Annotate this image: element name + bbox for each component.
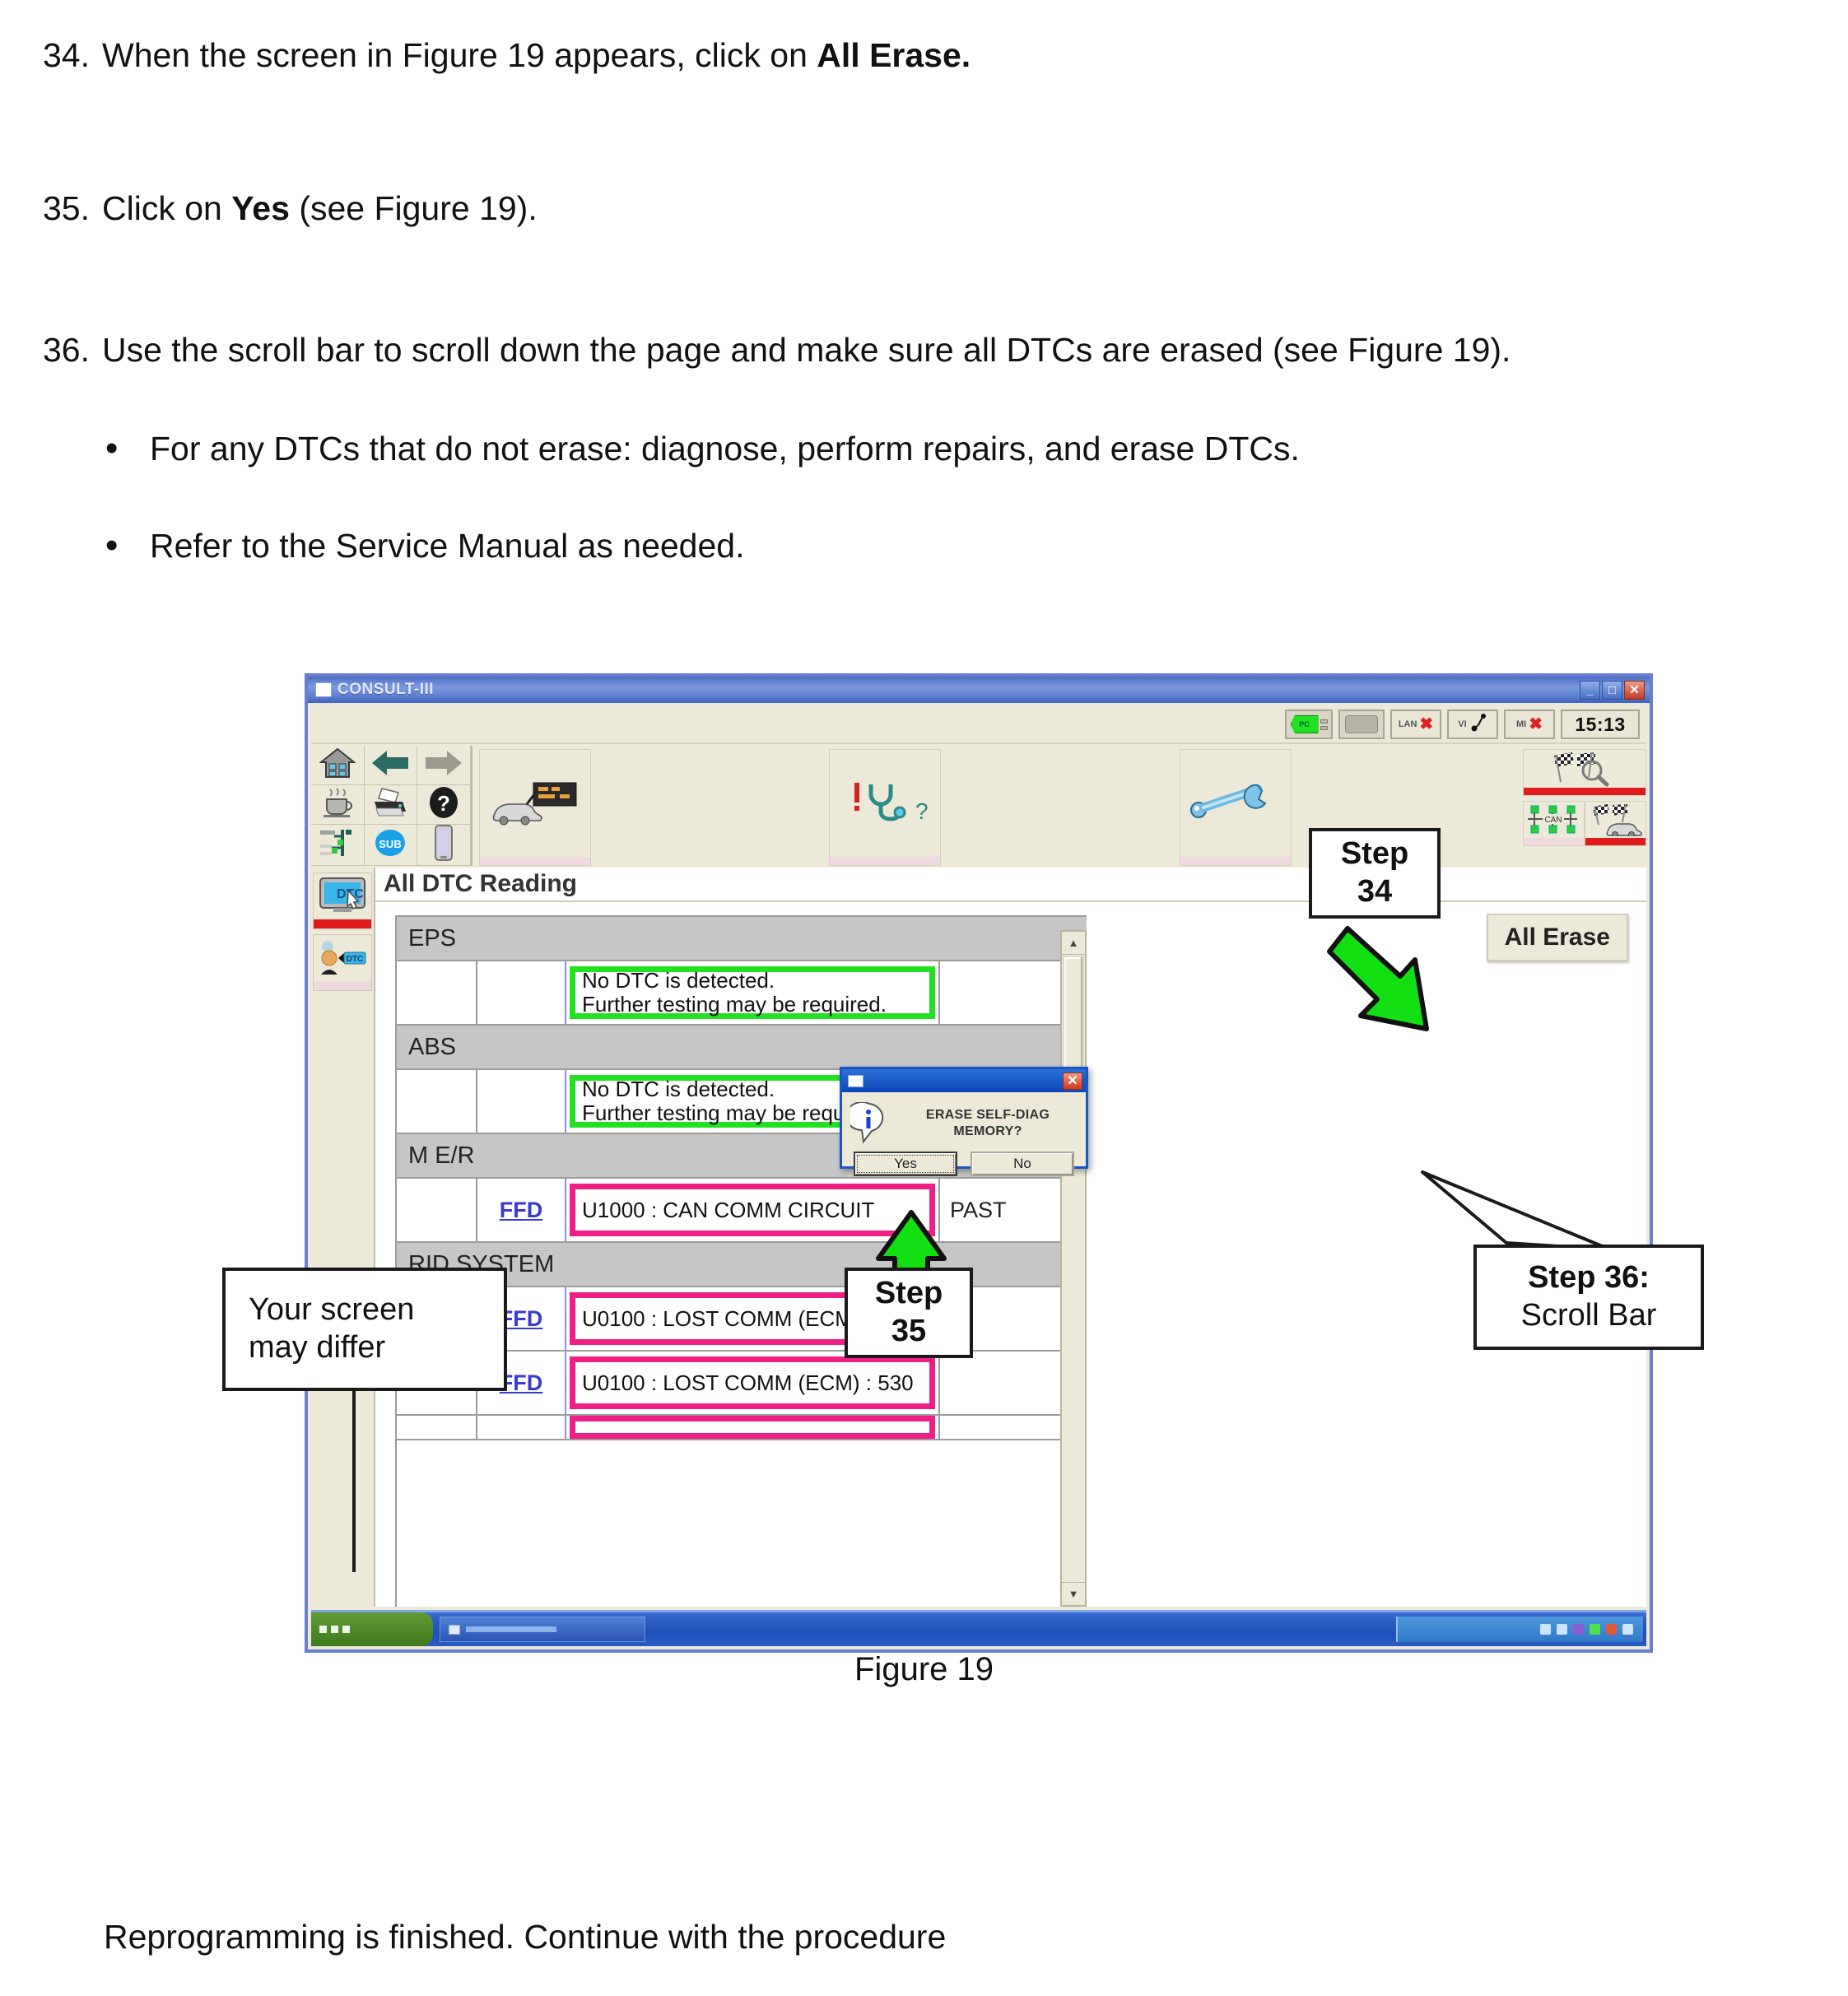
table-row[interactable]: FFD U1000 : CAN COMM CIRCUIT PAST (397, 1179, 1087, 1243)
wrench-icon (1187, 783, 1284, 824)
tray-icon[interactable] (1590, 1624, 1600, 1635)
taskbar-app-label (466, 1626, 556, 1632)
dialog-close-button[interactable]: ✕ (1063, 1072, 1082, 1090)
close-button[interactable]: ✕ (1624, 681, 1645, 700)
row-cell-index (397, 1179, 477, 1241)
vehicle-check-art (1585, 802, 1646, 838)
callout-step-35-line2: 35 (891, 1313, 926, 1351)
figure-caption: Figure 19 (0, 1651, 1848, 1688)
maintenance-underbar (1180, 857, 1291, 865)
dtc-transfer-art: DTC (314, 935, 371, 981)
battery-icon (1338, 710, 1385, 739)
sub-circle-icon: SUB (371, 826, 409, 863)
taskbar-window-item[interactable] (440, 1617, 645, 1642)
main-toolbar: ? (311, 746, 1646, 866)
bullet-item-2: •Refer to the Service Manual as needed. (105, 525, 745, 566)
row-cell-ffd (477, 961, 566, 1024)
maximize-button[interactable]: □ (1602, 681, 1622, 700)
dialog-buttons: Yes No (842, 1143, 1086, 1176)
step-34-text: When the screen in Figure 19 appears, cl… (102, 36, 817, 74)
bullet-dot-icon: • (105, 525, 150, 566)
callout-screen-differ-line1: Your screen (249, 1291, 414, 1329)
toolbar-function-buttons: ? (472, 746, 1646, 866)
erase-confirm-dialog: ✕ ERASE SELF-DIAG MEMORY? (840, 1067, 1088, 1169)
sub-mode-button[interactable]: SUB (365, 825, 418, 866)
step-35-number: 35. (43, 188, 102, 230)
step-34: 34.When the screen in Figure 19 appears,… (43, 35, 971, 77)
car-with-ecu-icon (486, 779, 584, 827)
row-cell-message: No DTC is detected. Further testing may … (566, 961, 938, 1024)
vehicle-ecu-button[interactable] (479, 749, 591, 866)
dialog-body: ERASE SELF-DIAG MEMORY? (842, 1092, 1086, 1143)
printer-icon (370, 786, 410, 823)
can-network-icon: CAN (1526, 803, 1580, 836)
mi-disconnected-x-icon: ✖ (1529, 716, 1543, 733)
dialog-message-line2: MEMORY? (896, 1124, 1079, 1140)
lan-disconnected-x-icon: ✖ (1419, 716, 1433, 733)
vi-label: VI (1458, 719, 1466, 729)
step-36: 36.Use the scroll bar to scroll down the… (43, 329, 1511, 371)
maintenance-button[interactable] (1180, 749, 1292, 866)
step-35-text-before: Click on (102, 189, 231, 227)
dtc-message-line1: No DTC is detected. (582, 969, 923, 993)
network-tree-button[interactable] (311, 825, 365, 866)
diagnosis-button[interactable]: ? (829, 749, 941, 866)
home-icon (319, 747, 356, 784)
svg-text:CAN: CAN (1545, 816, 1562, 825)
dialog-message: ERASE SELF-DIAG MEMORY? (896, 1102, 1079, 1140)
toolbar-left-grid: ? (311, 746, 472, 866)
print-button[interactable] (365, 785, 418, 825)
vi-wire-icon (1469, 713, 1487, 737)
handheld-device-button[interactable] (417, 825, 471, 866)
dtc-search-button[interactable] (1523, 749, 1646, 796)
back-button[interactable] (365, 746, 418, 785)
bullet-item-1: •For any DTCs that do not erase: diagnos… (105, 428, 1300, 469)
svg-text:SUB: SUB (379, 838, 402, 850)
network-tree-icon (318, 826, 357, 863)
vi-cable-svg (1469, 713, 1487, 733)
step-34-number: 34. (43, 35, 102, 77)
stethoscope-icon: ? (840, 779, 930, 827)
dialog-icon (848, 1075, 863, 1087)
step-35-text-after: (see Figure 19). (290, 189, 538, 227)
section-header-eps: EPS (397, 917, 1087, 961)
window-title: CONSULT-III (337, 681, 1580, 699)
back-arrow-icon (370, 747, 410, 783)
step-36-number: 36. (43, 329, 102, 371)
step-35: 35.Click on Yes (see Figure 19). (43, 188, 538, 230)
callout-step-35-line1: Step (875, 1275, 943, 1313)
page-title: All DTC Reading (375, 868, 1646, 902)
toolbar-right-row-1 (1523, 749, 1646, 796)
minimize-button[interactable]: _ (1580, 681, 1600, 700)
dtc-reading-rail-button[interactable]: DTC (313, 872, 372, 929)
pc-connection-icon: PC (1285, 710, 1333, 739)
dialog-yes-button[interactable]: Yes (854, 1152, 957, 1176)
checkered-flag-car-icon (1588, 803, 1642, 836)
callout-step-36-line2: Scroll Bar (1521, 1297, 1657, 1335)
callout-step-35: Step 35 (845, 1268, 973, 1358)
scroll-up-button[interactable]: ▲ (1062, 932, 1085, 955)
callout-step-34-line2: 34 (1357, 873, 1392, 911)
help-question-icon: ? (426, 785, 461, 824)
tray-icon[interactable] (1573, 1624, 1584, 1635)
row-cell-index (397, 1070, 477, 1133)
dtc-search-underbar (1524, 788, 1646, 795)
bullet-2-text: Refer to the Service Manual as needed. (150, 527, 745, 565)
vehicle-ecu-art (480, 750, 590, 857)
home-button[interactable] (311, 746, 365, 785)
coffee-break-button[interactable] (311, 785, 365, 825)
clock-display: 15:13 (1561, 710, 1640, 739)
all-erase-button[interactable]: All Erase (1487, 914, 1628, 961)
can-art: CAN (1524, 802, 1584, 838)
vehicle-check-underbar (1585, 838, 1646, 845)
lan-label: LAN (1399, 719, 1417, 729)
callout-step-36-line1: Step 36: (1528, 1259, 1650, 1297)
bullet-dot-icon: • (105, 428, 150, 469)
system-tray (1396, 1617, 1643, 1642)
tray-icon[interactable] (1540, 1624, 1551, 1635)
vehicle-ecu-underbar (480, 857, 590, 865)
mi-status-icon[interactable]: MI ✖ (1504, 710, 1555, 739)
start-logo-icon (342, 1626, 350, 1633)
toolbar-right-row-2: CAN (1523, 801, 1646, 846)
dtc-message-box: No DTC is detected. Further testing may … (570, 966, 935, 1019)
handheld-device-icon (433, 825, 454, 865)
start-logo-icon (331, 1626, 338, 1633)
start-logo-icon (319, 1626, 327, 1633)
can-diagnosis-button[interactable]: CAN (1523, 801, 1585, 846)
dialog-message-line1: ERASE SELF-DIAG (896, 1107, 1079, 1124)
callout-step-36: Step 36: Scroll Bar (1473, 1245, 1704, 1350)
svg-text:?: ? (915, 798, 929, 824)
toolbar-right-group: CAN (1523, 749, 1646, 866)
row-cell-ffd: FFD (477, 1179, 566, 1241)
svg-text:?: ? (437, 791, 450, 816)
step-34-green-arrow (1321, 920, 1461, 1052)
toolbar-gap-1 (591, 746, 822, 866)
coffee-cup-icon (319, 786, 356, 823)
dialog-title-bar: ✕ (842, 1069, 1086, 1092)
dtc-monitor-icon: DTC (317, 876, 368, 917)
footer-text: Reprogramming is finished. Continue with… (104, 1918, 946, 1956)
row-cell-index (397, 961, 477, 1024)
lan-status-icon[interactable]: LAN ✖ (1390, 710, 1441, 739)
can-underbar (1524, 838, 1584, 845)
scroll-down-button[interactable]: ▼ (1062, 1582, 1085, 1605)
tray-icon[interactable] (1606, 1624, 1617, 1635)
window-title-bar: CONSULT-III _ □ ✕ (308, 677, 1650, 703)
step-34-emphasis: All Erase. (817, 36, 971, 74)
step-35-emphasis: Yes (231, 189, 290, 227)
document-page: 34.When the screen in Figure 19 appears,… (0, 0, 1848, 1996)
dtc-transfer-bar (314, 981, 371, 990)
forward-arrow-icon (424, 747, 463, 783)
windows-taskbar (311, 1610, 1646, 1646)
dtc-message-line2: Further testing may be required. (582, 993, 923, 1017)
pc-pins-icon (1320, 719, 1328, 730)
callout-step-34-line1: Step (1341, 835, 1408, 873)
dtc-search-art (1524, 750, 1646, 788)
help-button[interactable]: ? (417, 785, 471, 825)
bullet-1-text: For any DTCs that do not erase: diagnose… (150, 430, 1300, 468)
dialog-no-button[interactable]: No (971, 1152, 1074, 1176)
maintenance-art (1180, 750, 1291, 857)
vehicle-check-button[interactable] (1585, 801, 1646, 846)
dtc-reading-active-bar (314, 919, 371, 928)
dtc-monitor-art: DTC (314, 873, 371, 919)
callout-screen-may-differ: Your screen may differ (222, 1268, 507, 1391)
screen-differ-leader-line (214, 1366, 642, 1580)
svg-text:DTC: DTC (347, 955, 364, 964)
callout-screen-differ-line2: may differ (249, 1329, 385, 1367)
status-indicator-row: PC LAN ✖ VI (311, 706, 1646, 744)
dtc-transfer-icon: DTC (316, 937, 369, 979)
diagnosis-underbar (830, 857, 940, 865)
checkered-flag-search-icon (1548, 751, 1622, 787)
vi-status-icon[interactable]: VI (1447, 710, 1498, 739)
tray-icon[interactable] (1557, 1624, 1567, 1635)
dtc-transfer-rail-button[interactable]: DTC (313, 934, 372, 991)
pc-plug-icon: PC (1291, 715, 1319, 733)
mi-label: MI (1516, 719, 1526, 729)
row-cell-ffd (477, 1070, 566, 1133)
diagnosis-art: ? (830, 750, 940, 857)
window-controls: _ □ ✕ (1580, 681, 1646, 700)
start-button[interactable] (311, 1612, 433, 1646)
step-36-text: Use the scroll bar to scroll down the pa… (102, 331, 1511, 369)
toolbar-gap-2 (941, 746, 1172, 866)
forward-button[interactable] (417, 746, 471, 785)
taskbar-app-icon (449, 1625, 460, 1635)
app-icon (315, 682, 332, 697)
table-row[interactable]: No DTC is detected. Further testing may … (397, 961, 1087, 1026)
vertical-scrollbar[interactable]: ▲ ▼ (1060, 930, 1087, 1607)
ffd-link[interactable]: FFD (500, 1198, 542, 1223)
info-icon (850, 1102, 888, 1143)
section-header-abs: ABS (397, 1026, 1087, 1070)
callout-step-34: Step 34 (1309, 828, 1441, 919)
battery-cell-icon (1345, 715, 1378, 733)
tray-icon[interactable] (1622, 1624, 1633, 1635)
